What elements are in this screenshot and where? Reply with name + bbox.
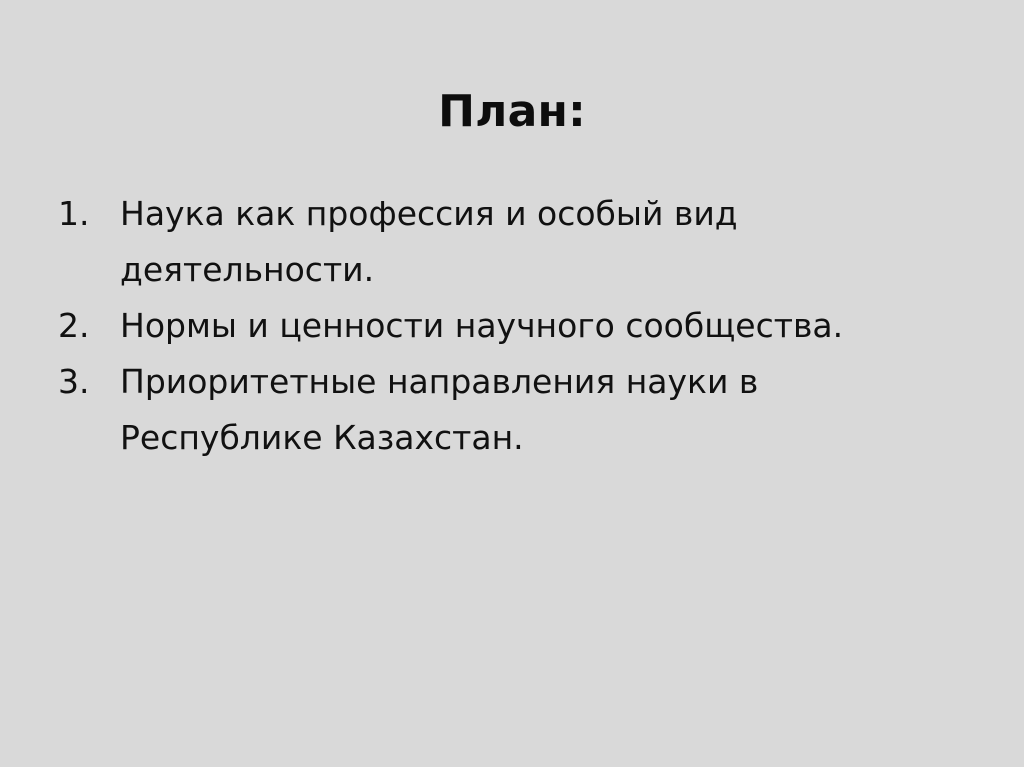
plan-list: 1. Наука как профессия и особый вид деят… bbox=[58, 186, 958, 466]
page-title: План: bbox=[0, 87, 1024, 138]
list-item-marker: 2. bbox=[58, 298, 120, 354]
list-item: 1. Наука как профессия и особый вид деят… bbox=[58, 186, 958, 298]
presentation-slide: План: 1. Наука как профессия и особый ви… bbox=[0, 0, 1024, 767]
list-item-marker: 1. bbox=[58, 186, 120, 242]
list-item-label: Нормы и ценности научного сообщества. bbox=[120, 298, 930, 354]
list-item: 2. Нормы и ценности научного сообщества. bbox=[58, 298, 958, 354]
list-item-marker: 3. bbox=[58, 354, 120, 410]
list-item-label: Приоритетные направления науки в Республ… bbox=[120, 354, 850, 466]
list-item: 3. Приоритетные направления науки в Респ… bbox=[58, 354, 958, 466]
list-item-label: Наука как профессия и особый вид деятель… bbox=[120, 186, 810, 298]
